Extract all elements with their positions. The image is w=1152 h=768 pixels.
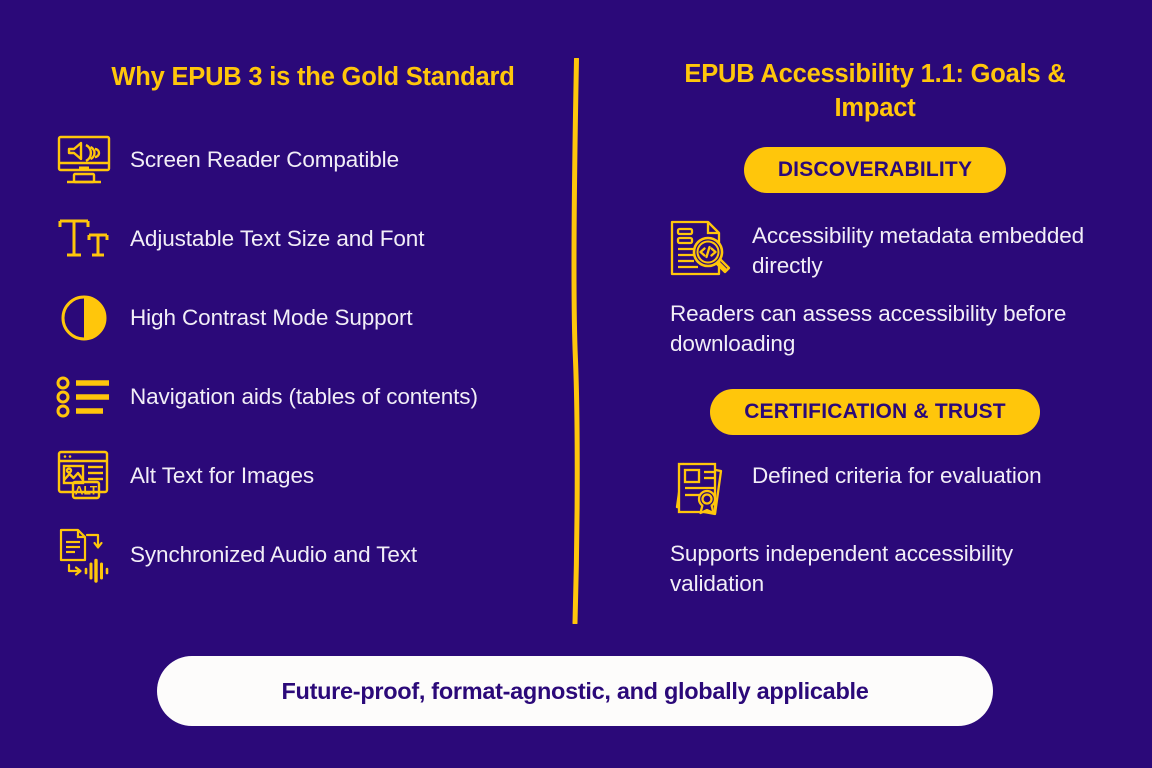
section-note: Readers can assess accessibility before … [640, 299, 1110, 359]
text-size-icon [48, 210, 120, 268]
list-item-label: Navigation aids (tables of contents) [130, 383, 478, 411]
vertical-divider-line [560, 58, 590, 624]
right-column: EPUB Accessibility 1.1: Goals & Impact D… [640, 58, 1110, 599]
right-column-title: EPUB Accessibility 1.1: Goals & Impact [640, 58, 1110, 125]
section-point-text: Defined criteria for evaluation [752, 457, 1042, 491]
list-item: Screen Reader Compatible [48, 121, 560, 200]
section-certification-trust: CERTIFICATION & TRUST [640, 389, 1110, 599]
section-discoverability: DISCOVERABILITY [640, 147, 1110, 359]
bulleted-list-icon [48, 368, 120, 426]
feature-list: Screen Reader Compatible [48, 121, 560, 595]
badge-row: CERTIFICATION & TRUST [640, 389, 1110, 435]
contrast-circle-icon [48, 289, 120, 347]
infographic-canvas: Why EPUB 3 is the Gold Standard [0, 0, 1152, 768]
list-item-label: High Contrast Mode Support [130, 304, 413, 332]
footer-banner-text: Future-proof, format-agnostic, and globa… [281, 678, 868, 705]
list-item-label: Alt Text for Images [130, 462, 314, 490]
monitor-speaker-icon [48, 131, 120, 189]
left-column: Why EPUB 3 is the Gold Standard [48, 62, 560, 595]
status-badge[interactable]: CERTIFICATION & TRUST [710, 389, 1040, 435]
list-item-label: Synchronized Audio and Text [130, 541, 417, 569]
svg-text:ALT: ALT [75, 484, 98, 498]
list-item: ALT Alt Text for Images [48, 437, 560, 516]
list-item: Adjustable Text Size and Font [48, 200, 560, 279]
list-item: High Contrast Mode Support [48, 279, 560, 358]
left-column-title: Why EPUB 3 is the Gold Standard [48, 62, 560, 93]
section-point-text: Accessibility metadata embedded directly [752, 217, 1110, 281]
list-item-label: Adjustable Text Size and Font [130, 225, 424, 253]
image-alt-text-icon: ALT [48, 447, 120, 505]
footer-banner: Future-proof, format-agnostic, and globa… [157, 656, 993, 726]
list-item-label: Screen Reader Compatible [130, 146, 399, 174]
section-point: Accessibility metadata embedded directly [640, 217, 1110, 283]
status-badge[interactable]: DISCOVERABILITY [744, 147, 1006, 193]
list-item: Synchronized Audio and Text [48, 516, 560, 595]
document-code-search-icon [664, 217, 738, 283]
certificate-seal-icon [664, 457, 738, 523]
document-audio-sync-icon [48, 526, 120, 584]
section-body: Accessibility metadata embedded directly… [640, 217, 1110, 359]
section-point: Defined criteria for evaluation [640, 457, 1110, 523]
list-item: Navigation aids (tables of contents) [48, 358, 560, 437]
section-note: Supports independent accessibility valid… [640, 539, 1110, 599]
badge-row: DISCOVERABILITY [640, 147, 1110, 193]
section-body: Defined criteria for evaluation Supports… [640, 457, 1110, 599]
